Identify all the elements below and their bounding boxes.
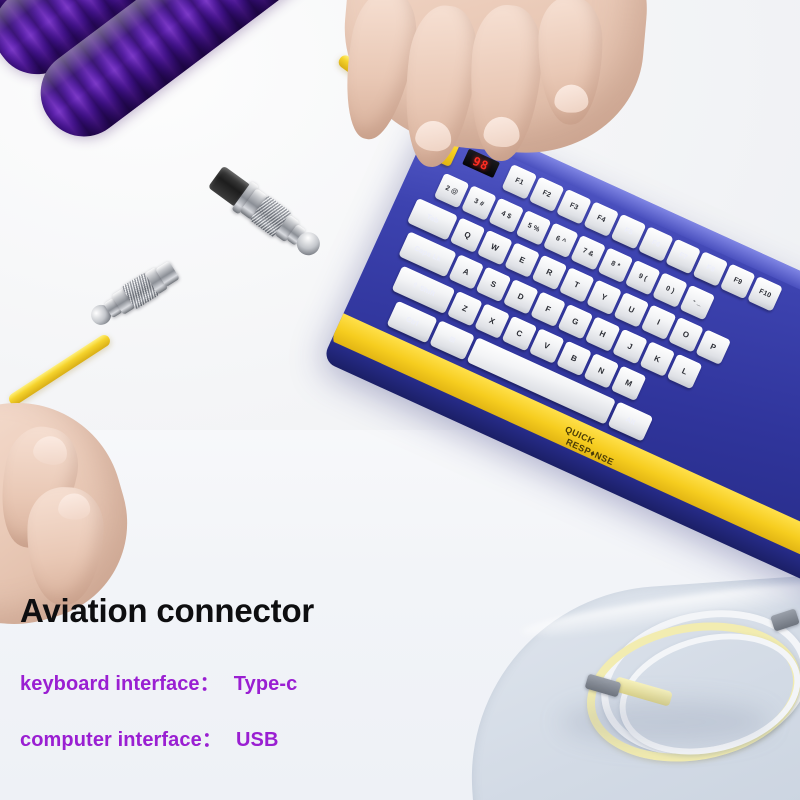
caption-line-computer-interface: computer interface：USB — [20, 723, 279, 752]
caption-line-keyboard-interface: keyboard interface：Type-c — [20, 667, 297, 696]
fingernail — [58, 493, 91, 520]
finger — [465, 3, 546, 164]
product-photo-stage: 98 ▷ F1 F2 F3 F4 F5 F6 F7 F8 F9 F10 2 @ … — [0, 0, 800, 800]
caption-label: computer interface — [20, 729, 202, 751]
caption-title: Aviation connector — [20, 592, 314, 630]
caption-label: keyboard interface — [20, 673, 200, 695]
caption-separator: ： — [202, 729, 222, 751]
fingernail — [554, 85, 588, 113]
caption-value: USB — [236, 729, 279, 751]
fingernail — [483, 116, 521, 148]
fingernail — [31, 433, 70, 467]
keyboard-body: 98 ▷ F1 F2 F3 F4 F5 F6 F7 F8 F9 F10 2 @ … — [325, 106, 800, 602]
caption-block: Aviation connector keyboard interface：Ty… — [0, 586, 800, 800]
caption-value: Type-c — [234, 673, 298, 695]
finger — [538, 0, 602, 125]
fingernail — [414, 119, 453, 153]
yellow-cable-lead-lower — [7, 333, 112, 407]
caption-separator: ： — [200, 673, 220, 695]
